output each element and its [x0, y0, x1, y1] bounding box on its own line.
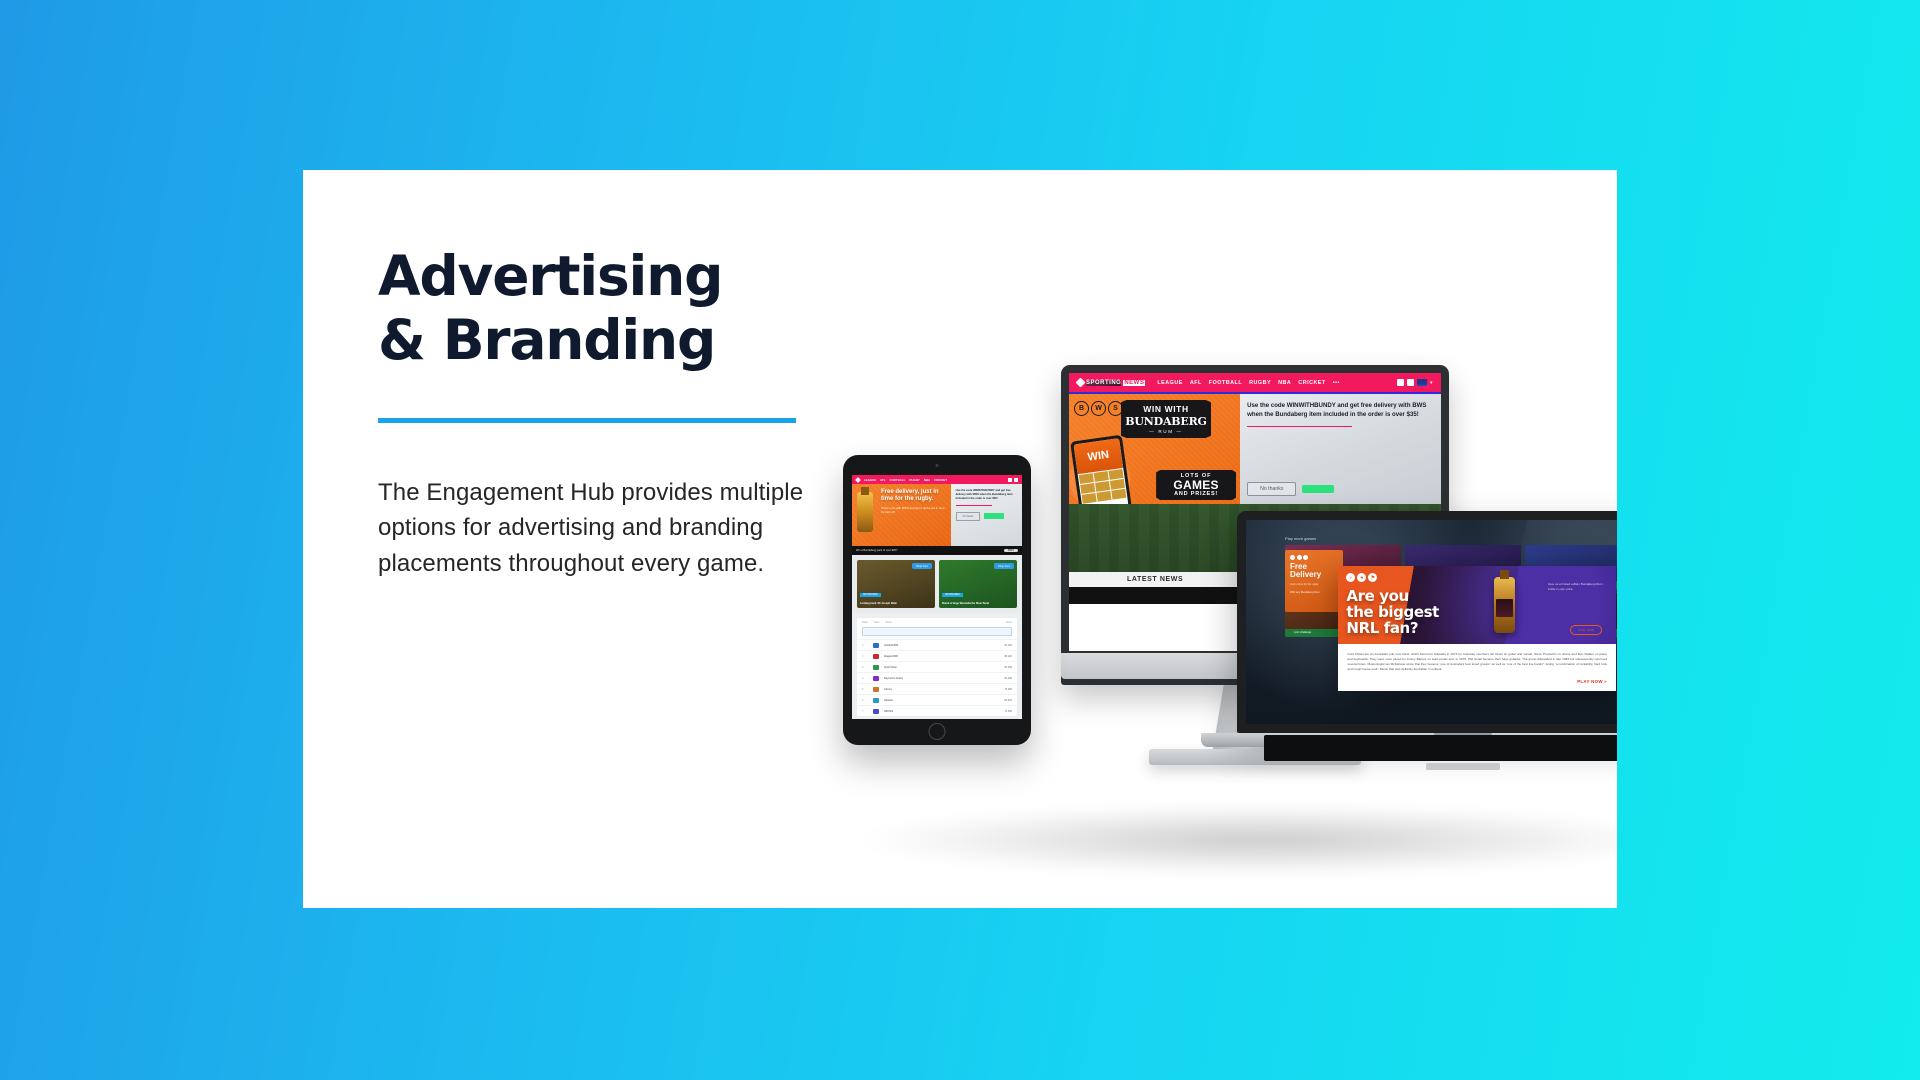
badge-and-prizes: AND PRIZES! — [1158, 491, 1234, 497]
dot-icon-circle: ● — [1357, 573, 1366, 582]
column-score: Score — [1006, 621, 1012, 624]
team-avatar — [873, 665, 879, 670]
row-rank: 7 — [862, 710, 868, 713]
tablet-hero-ad[interactable]: Free delivery, just in time for the rugb… — [852, 484, 1022, 546]
row-name: Johnny — [884, 688, 999, 691]
nav-item-rugby[interactable]: RUGBY — [1249, 380, 1271, 386]
leaderboard-header: Rank Team Name Score — [857, 618, 1017, 627]
tablet-offer-buttons: No thanks — [956, 512, 1017, 521]
list-item[interactable]: Shop here SPONSORED Looking back: Mr Jos… — [857, 560, 935, 608]
tablet-nav-item-league[interactable]: LEAGUE — [864, 478, 876, 482]
headline-line-3: NRL fan? — [1346, 619, 1418, 637]
tablet-nav-icons — [1008, 478, 1018, 482]
bws-letter-b: B — [1074, 401, 1089, 416]
tablet-hero-headline: Free delivery, just in time for the rugb… — [881, 489, 946, 503]
row-score: 88,220 — [1004, 655, 1012, 658]
nav-item-football[interactable]: FOOTBALL — [1209, 380, 1242, 386]
offer-panel: Use the code WINWITHBUNDY and get free d… — [1240, 394, 1441, 504]
title-line-1: Advertising — [378, 244, 722, 308]
laptop-mockup: Play more games Guess the song Name the … — [1237, 511, 1617, 779]
tablet-nav-item-cricket[interactable]: CRICKET — [934, 478, 947, 482]
row-name: Raymond Jockey — [884, 677, 999, 680]
nrl-quiz-modal: ♪ ● ⚑ Are you the biggest NRL fan? — [1338, 566, 1616, 691]
table-row: 5Johnny79,080 — [857, 683, 1017, 694]
table-row: 4Raymond Jockey80,930 — [857, 672, 1017, 683]
site-navbar: SPORTINGNEWS LEAGUE AFL FOOTBALL RUGBY N… — [1069, 373, 1441, 392]
tablet-offer-panel: Use the code WINWITHBUNDY and get free d… — [951, 484, 1022, 546]
tablet-offer-divider — [956, 505, 993, 506]
tablet-facebook-icon[interactable] — [1008, 478, 1012, 482]
nav-items: LEAGUE AFL FOOTBALL RUGBY NBA CRICKET ••… — [1157, 380, 1340, 386]
tablet-logo-icon — [855, 477, 861, 483]
dot-icon-flag: ⚑ — [1368, 573, 1377, 582]
nav-item-cricket[interactable]: CRICKET — [1298, 380, 1325, 386]
win-with-bundaberg-badge: WIN WITH BUNDABERG — RUM — — [1121, 400, 1211, 438]
badge-line-rum: — RUM — — [1124, 429, 1208, 434]
device-mockup-cluster: SPORTINGNEWS LEAGUE AFL FOOTBALL RUGBY N… — [843, 325, 1617, 885]
row-rank: 4 — [862, 677, 868, 680]
logo-text-secondary: NEWS — [1123, 380, 1145, 386]
laptop-page-content: Play more games Guess the song Name the … — [1285, 536, 1617, 718]
accent-rule — [378, 418, 796, 423]
nav-item-league[interactable]: LEAGUE — [1157, 380, 1182, 386]
tablet-no-thanks-button[interactable]: No thanks — [956, 512, 981, 521]
leaderboard-search-input[interactable] — [862, 627, 1012, 636]
modal-body-text: Cold Chisel are an Australian pub rock b… — [1347, 652, 1607, 672]
tablet-accept-button[interactable] — [984, 513, 1004, 519]
free-delivery-sub: Just in time for the rugby. — [1290, 583, 1338, 587]
nav-item-more[interactable]: ••• — [1333, 380, 1340, 386]
badge-line-bundaberg: BUNDABERG — [1124, 415, 1208, 428]
laptop-lid: Play more games Guess the song Name the … — [1237, 511, 1617, 733]
row-rank: 6 — [862, 699, 868, 702]
list-item[interactable]: Shop here SPONSORED Brand of large Westr… — [939, 560, 1017, 608]
page-title: Advertising & Branding — [378, 245, 848, 373]
row-name: Goodwin095 — [884, 644, 999, 647]
row-score: 74,080 — [1004, 710, 1012, 713]
logo-text-primary: SPORTING — [1086, 380, 1121, 386]
tablet-twitter-icon[interactable] — [1014, 478, 1018, 482]
sponsored-tag: SPONSORED — [860, 593, 881, 597]
tablet-home-button[interactable] — [929, 723, 946, 740]
table-row: 7NZK32174,080 — [857, 705, 1017, 716]
no-thanks-button[interactable]: No thanks — [1247, 482, 1296, 496]
nav-item-afl[interactable]: AFL — [1190, 380, 1202, 386]
ad-takeover: B W S WIN WITH BUNDABERG — RUM — — [1069, 394, 1441, 504]
tablet-ad-footer: Win a Bundaberg pack of over $35? BWS — [852, 546, 1022, 555]
tablet-camera-icon — [936, 464, 939, 467]
free-delivery-headline: FreeDelivery — [1290, 563, 1338, 580]
diamond-logo-icon — [1076, 378, 1086, 388]
tablet-hero-sub: Order now with BWS and get it delivered … — [881, 507, 946, 515]
tablet-mockup: LEAGUE AFL FOOTBALL RUGBY NBA CRICKET Fr… — [843, 455, 1031, 745]
games-prizes-badge: LOTS OF GAMES AND PRIZES! — [1156, 470, 1236, 500]
offer-divider — [1247, 426, 1352, 428]
team-avatar — [873, 654, 879, 659]
badge-line-win-with: WIN WITH — [1124, 404, 1208, 414]
column-team: Team — [874, 621, 880, 624]
row-name: NZK321 — [884, 710, 999, 713]
region-flag-icon[interactable] — [1417, 379, 1427, 386]
bws-letter-w: W — [1091, 401, 1106, 416]
ad-creative-panel[interactable]: B W S WIN WITH BUNDABERG — RUM — — [1069, 394, 1240, 504]
row-name: Natwick — [884, 699, 999, 702]
tablet-ad-creative: Free delivery, just in time for the rugb… — [852, 484, 951, 546]
chevron-down-icon[interactable]: ▾ — [1430, 380, 1433, 386]
rum-bottle-icon — [857, 492, 873, 532]
tablet-nav-item-football[interactable]: FOOTBALL — [890, 478, 906, 482]
row-score: 79,080 — [1004, 688, 1012, 691]
facebook-icon[interactable] — [1397, 379, 1404, 386]
modal-side-text: Give us a limited edition Bundaberg Rum … — [1548, 582, 1610, 592]
floor-shadow — [863, 805, 1617, 875]
row-score: 90,150 — [1004, 644, 1012, 647]
table-row: 3Scott Oliver85,006 — [857, 661, 1017, 672]
tablet-navbar: LEAGUE AFL FOOTBALL RUGBY NBA CRICKET — [852, 475, 1022, 484]
slide-stage: Advertising & Branding The Engagement Hu… — [0, 0, 1920, 1080]
nav-right-group: ▾ — [1397, 379, 1433, 386]
modal-side-button[interactable]: PLAY NOW — [1570, 625, 1602, 635]
laptop-trackpad[interactable] — [1426, 763, 1500, 770]
play-now-button[interactable]: PLAY NOW » — [1347, 679, 1607, 684]
sporting-news-logo[interactable]: SPORTINGNEWS — [1077, 379, 1145, 386]
table-row: 6Natwick86,510 — [857, 694, 1017, 705]
row-score: 80,930 — [1004, 677, 1012, 680]
title-line-2: & Branding — [378, 308, 715, 372]
free-delivery-ad[interactable]: FreeDelivery Just in time for the rugby.… — [1285, 550, 1343, 612]
tile-label: Lyric challenge — [1294, 631, 1311, 634]
modal-headline: Are you the biggest NRL fan? — [1346, 588, 1438, 637]
offer-buttons: No thanks — [1247, 482, 1334, 496]
rum-bottle-icon — [1494, 577, 1515, 633]
team-avatar — [873, 687, 879, 692]
shop-here-button[interactable]: Shop here — [912, 563, 932, 569]
badge-games: GAMES — [1158, 479, 1234, 491]
tablet-offer-text: Use the code WINWITHBUNDY and get free d… — [956, 489, 1017, 501]
modal-hero: ♪ ● ⚑ Are you the biggest NRL fan? — [1338, 566, 1616, 644]
tablet-footer-text: Win a Bundaberg pack of over $35? — [856, 549, 897, 552]
laptop-keyboard — [1264, 735, 1617, 761]
row-name: Dragon2345 — [884, 655, 999, 658]
column-rank: Rank — [862, 621, 868, 624]
team-avatar — [873, 709, 879, 714]
laptop-screen: Play more games Guess the song Name the … — [1246, 520, 1617, 724]
team-avatar — [873, 676, 879, 681]
card-caption: Looking back: Mr Joseph Rahn — [860, 602, 927, 605]
dot-icon-music: ♪ — [1346, 573, 1355, 582]
tablet-leaderboard-block: Rank Team Name Score 1Goodwin09590,150 2… — [852, 613, 1022, 719]
free-delivery-tag: With any Bundaberg Rum — [1290, 591, 1338, 594]
modal-body: Cold Chisel are an Australian pub rock b… — [1338, 644, 1616, 691]
card-caption: Brand of large Westralia the River Bend — [942, 602, 1009, 605]
row-rank: 1 — [862, 644, 868, 647]
text-column: Advertising & Branding The Engagement Hu… — [378, 245, 848, 605]
phone-tile-grid — [1078, 468, 1128, 504]
row-name: Scott Oliver — [884, 666, 999, 669]
brand-dots-icon: ♪ ● ⚑ — [1346, 573, 1377, 582]
sponsored-tag: SPONSORED — [942, 593, 963, 597]
free-delivery-line-2: Delivery — [1290, 570, 1321, 579]
row-rank: 2 — [862, 655, 868, 658]
table-row: 1Goodwin09590,150 — [857, 639, 1017, 650]
accept-offer-button[interactable] — [1302, 485, 1334, 493]
phone-creative-illustration: WIN — [1070, 435, 1132, 504]
row-rank: 3 — [862, 666, 868, 669]
tablet-nav-item-nba[interactable]: NBA — [924, 478, 930, 482]
play-more-label: Play more games — [1285, 536, 1617, 541]
bws-letter-s: S — [1108, 401, 1123, 416]
leaderboard-table: Rank Team Name Score 1Goodwin09590,150 2… — [857, 618, 1017, 716]
team-avatar — [873, 643, 879, 648]
twitter-icon[interactable] — [1407, 379, 1414, 386]
row-rank: 5 — [862, 688, 868, 691]
tablet-promo-cards: Shop here SPONSORED Looking back: Mr Jos… — [852, 555, 1022, 613]
table-row: 2Dragon234588,220 — [857, 650, 1017, 661]
nav-item-nba[interactable]: NBA — [1278, 380, 1291, 386]
tablet-screen: LEAGUE AFL FOOTBALL RUGBY NBA CRICKET Fr… — [852, 475, 1022, 719]
brand-dots-icon — [1290, 555, 1338, 560]
column-name: Name — [885, 621, 999, 624]
shop-here-button[interactable]: Shop here — [994, 563, 1014, 569]
slide-card: Advertising & Branding The Engagement Hu… — [303, 170, 1617, 908]
row-score: 86,510 — [1004, 699, 1012, 702]
offer-text: Use the code WINWITHBUNDY and get free d… — [1247, 402, 1434, 420]
team-avatar — [873, 698, 879, 703]
tablet-nav-item-afl[interactable]: AFL — [880, 478, 886, 482]
tablet-footer-badge: BWS — [1004, 549, 1018, 552]
bws-logo: B W S — [1074, 401, 1123, 416]
row-score: 85,006 — [1004, 666, 1012, 669]
tablet-nav-item-rugby[interactable]: RUGBY — [909, 478, 919, 482]
body-paragraph: The Engagement Hub provides multiple opt… — [378, 475, 848, 582]
